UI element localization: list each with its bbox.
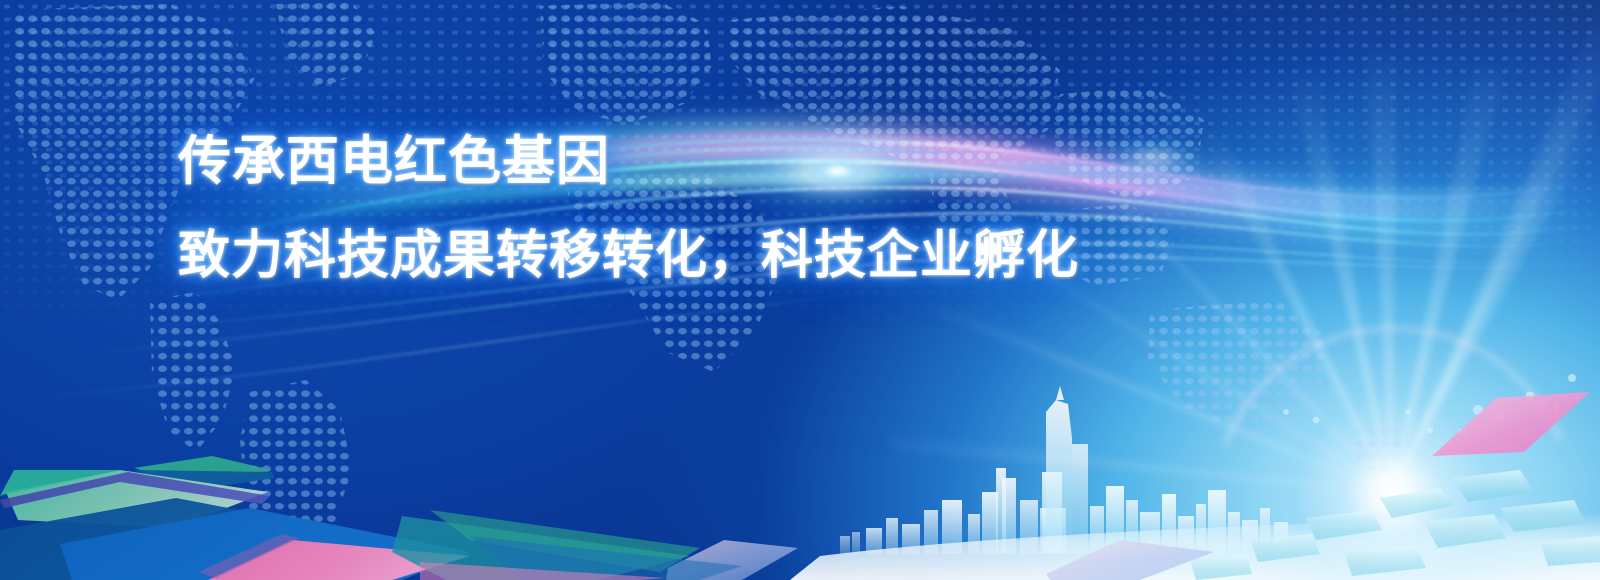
angular-ribbon-polygons <box>0 0 1600 580</box>
dot-grid-pattern <box>0 0 1600 580</box>
diagonal-sheen <box>0 0 1600 580</box>
flowing-light-streams <box>0 0 1600 580</box>
headline-line-1: 传承西电红色基因 <box>178 132 1178 192</box>
headline-block: 传承西电红色基因 致力科技成果转移转化，科技企业孵化 <box>178 132 1178 286</box>
radial-light-burst <box>0 0 1600 580</box>
dotted-world-map <box>0 0 1600 580</box>
burst-core-glow <box>0 0 1600 580</box>
map-terrain-and-accents <box>0 0 1600 580</box>
hero-banner: 传承西电红色基因 致力科技成果转移转化，科技企业孵化 <box>0 0 1600 580</box>
background-gradient <box>0 0 1600 580</box>
headline-line-2: 致力科技成果转移转化，科技企业孵化 <box>178 226 1178 286</box>
translucent-city-skyline <box>0 0 1600 580</box>
